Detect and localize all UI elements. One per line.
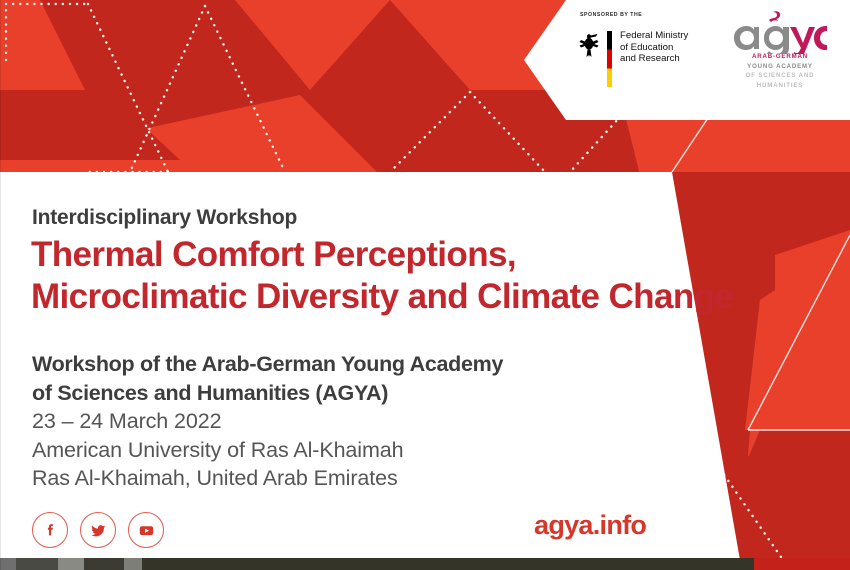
- agya-wordmark: [720, 10, 840, 54]
- sponsor-header-panel: SPONSORED BY THE Federal Ministry of: [524, 0, 850, 120]
- federal-ministry-logo: Federal Ministry of Education and Resear…: [577, 30, 688, 87]
- headline-line-2: Microclimatic Diversity and Climate Chan…: [31, 276, 733, 318]
- detail-line: of Sciences and Humanities (AGYA): [32, 379, 503, 408]
- headline-line-1: Thermal Comfort Perceptions,: [31, 235, 516, 274]
- twitter-icon: [90, 522, 107, 539]
- agya-sub-line-2: YOUNG ACADEMY: [720, 62, 840, 72]
- detail-line-dates: 23 – 24 March 2022: [32, 407, 503, 436]
- sponsored-by-label: SPONSORED BY THE: [580, 12, 642, 18]
- social-link-twitter[interactable]: [80, 512, 116, 548]
- taskbar-block: [16, 558, 58, 570]
- panel-edge-divider: [0, 0, 1, 570]
- social-link-facebook[interactable]: [32, 512, 68, 548]
- youtube-icon: [138, 522, 155, 539]
- taskbar-block: [84, 558, 124, 570]
- taskbar-filler: [142, 558, 754, 570]
- detail-line-venue: American University of Ras Al-Khaimah: [32, 436, 503, 465]
- poster-canvas: SPONSORED BY THE Federal Ministry of: [0, 0, 850, 570]
- ministry-line-3: and Research: [620, 53, 688, 65]
- agya-sub-line-4: HUMANITIES: [720, 81, 840, 91]
- social-link-youtube[interactable]: [128, 512, 164, 548]
- agya-sub-line-3: OF SCIENCES AND: [720, 71, 840, 81]
- german-eagle-icon: [577, 32, 601, 58]
- detail-line: Workshop of the Arab-German Young Academ…: [32, 350, 503, 379]
- taskbar-accent-block: [754, 558, 850, 570]
- website-link[interactable]: agya.info: [534, 510, 646, 541]
- facebook-icon: [42, 522, 59, 539]
- german-flag-bar: [607, 31, 612, 87]
- taskbar-block: [124, 558, 142, 570]
- detail-line-location: Ras Al-Khaimah, United Arab Emirates: [32, 464, 503, 493]
- ministry-line-1: Federal Ministry: [620, 30, 688, 42]
- agya-subtitle: ARAB-GERMAN YOUNG ACADEMY OF SCIENCES AN…: [720, 52, 840, 90]
- poster-kicker: Interdisciplinary Workshop: [32, 206, 297, 230]
- ministry-text: Federal Ministry of Education and Resear…: [620, 30, 688, 65]
- agya-logo[interactable]: ARAB-GERMAN YOUNG ACADEMY OF SCIENCES AN…: [720, 10, 840, 90]
- ministry-line-2: of Education: [620, 42, 688, 54]
- page-title: Thermal Comfort Perceptions, Microclimat…: [31, 234, 733, 318]
- social-links: [32, 512, 164, 548]
- os-taskbar-strip: [0, 558, 850, 570]
- taskbar-block: [58, 558, 84, 570]
- poster-content: Interdisciplinary Workshop Thermal Comfo…: [0, 172, 700, 562]
- event-details: Workshop of the Arab-German Young Academ…: [32, 350, 503, 493]
- taskbar-block: [0, 558, 16, 570]
